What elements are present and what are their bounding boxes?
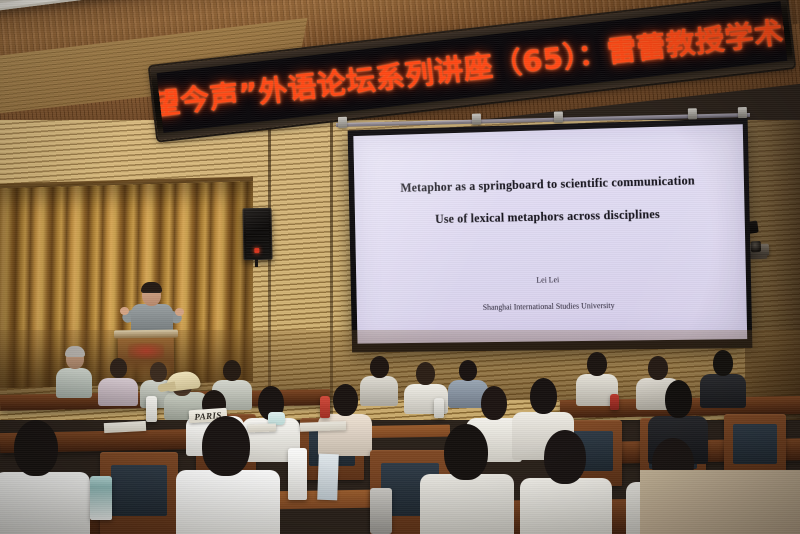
audience-torso (0, 472, 90, 534)
audience-hair (65, 346, 85, 357)
slide-author: Lei Lei (536, 275, 559, 284)
drink-bottle (320, 396, 330, 418)
audience-head (370, 356, 389, 378)
floor-surface (640, 470, 800, 534)
presenter-left-hand (120, 307, 129, 315)
audience-head (713, 350, 733, 376)
seat-pad (111, 465, 167, 516)
audience-torso (56, 368, 92, 398)
water-bottle-front (288, 448, 307, 500)
audience-head (202, 416, 250, 476)
podium-emblem (128, 343, 164, 359)
speaker-mount-stem (255, 258, 258, 267)
water-bottle (146, 396, 157, 422)
audience-head (14, 420, 58, 476)
presenter-glasses (143, 292, 160, 297)
audience-member-foreground (520, 430, 612, 534)
slide-affiliation: Shanghai International Studies Universit… (483, 301, 615, 312)
paper-handout (248, 424, 276, 433)
audience-head (530, 378, 557, 414)
wall-speaker (242, 208, 272, 261)
screen-hanger-2 (472, 113, 481, 124)
audience-member (56, 348, 92, 396)
water-bottle (434, 398, 444, 418)
podium-top-surface (114, 330, 178, 339)
presentation-slide: Metaphor as a springboard to scientific … (353, 124, 747, 343)
screen-hanger-1 (338, 117, 347, 128)
paper-handout (300, 421, 346, 432)
audience-head (416, 362, 435, 385)
screen-hanger-3 (554, 111, 563, 122)
audience-head (665, 380, 692, 418)
tumbler-cup (370, 488, 392, 534)
slide-title-line-2: Use of lexical metaphors across discipli… (435, 207, 660, 227)
speaker-power-led (254, 248, 259, 253)
audience-head (459, 360, 477, 381)
audience-head (544, 430, 586, 484)
audience-torso (520, 478, 612, 534)
lecture-hall-photo: “南望今声”外语论坛系列讲座（65）：雷蕾教授学术讲座 Metaphor as … (0, 0, 800, 534)
ptz-camera (748, 240, 770, 261)
audience-torso (420, 474, 514, 534)
notebook (317, 454, 339, 501)
audience-head (223, 360, 241, 381)
audience-torso (176, 470, 280, 534)
audience-head (587, 352, 607, 376)
ptz-camera-base (750, 255, 767, 260)
small-bottle (610, 394, 619, 410)
seat-pad (733, 424, 778, 464)
presenter-right-hand (175, 308, 184, 316)
audience-torso (98, 378, 138, 406)
audience-head (333, 384, 358, 416)
projection-screen-surface: Metaphor as a springboard to scientific … (353, 124, 747, 343)
thermos-bottle (90, 476, 112, 520)
slide-title-line-1: Metaphor as a springboard to scientific … (400, 173, 695, 195)
screen-hanger-4 (688, 108, 697, 119)
audience-head (481, 386, 507, 420)
audience-member-foreground (420, 424, 514, 534)
ptz-camera-lens (751, 241, 761, 252)
audience-member-foreground (0, 420, 90, 534)
audience-member (98, 358, 138, 402)
projection-screen: Metaphor as a springboard to scientific … (348, 118, 753, 352)
screen-hanger-5 (738, 107, 747, 118)
audience-head (444, 424, 488, 480)
audience-member-foreground (176, 416, 280, 534)
audience-head (110, 358, 127, 378)
lecture-seat (724, 414, 786, 478)
audience-head (648, 356, 668, 380)
